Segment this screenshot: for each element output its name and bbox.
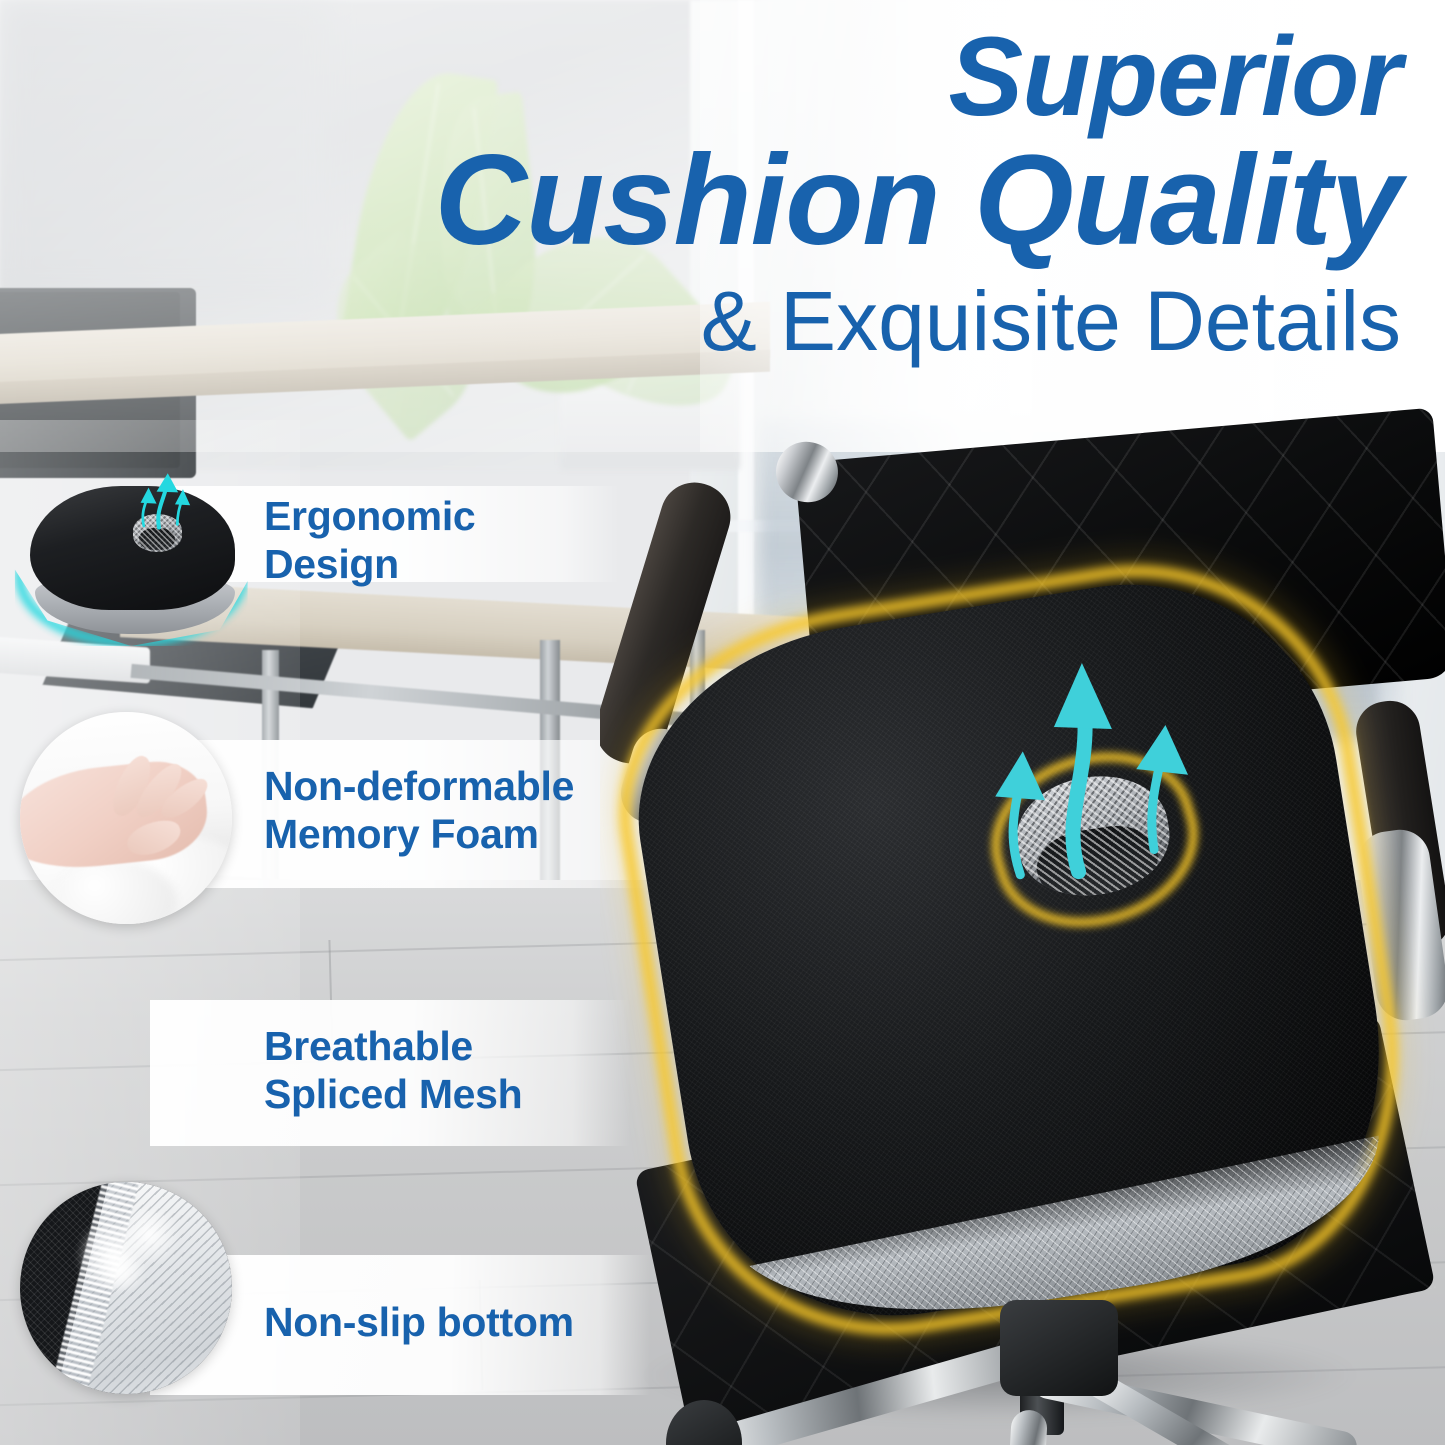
feature-label-line-1: Non-deformable <box>264 762 574 810</box>
headline-line-2: Cushion Quality <box>341 138 1401 263</box>
headline-line-3: & Exquisite Details <box>341 277 1401 365</box>
feature-label-line-2: Spliced Mesh <box>264 1070 522 1118</box>
thumbnail-ergonomic-design <box>10 458 255 658</box>
headline-line-1: Superior <box>341 22 1401 132</box>
feature-ergonomic-design: Ergonomic Design <box>264 492 475 589</box>
chair-hub <box>1000 1300 1118 1396</box>
airflow-arrows <box>910 580 1255 933</box>
feature-label-line-1: Ergonomic <box>264 492 475 540</box>
feature-label-memory-foam: Non-deformable Memory Foam <box>264 762 574 859</box>
feature-label-ergonomic-design: Ergonomic Design <box>264 492 475 589</box>
product-marketing-poster: Superior Cushion Quality & Exquisite Det… <box>0 0 1445 1445</box>
feature-memory-foam: Non-deformable Memory Foam <box>264 762 574 859</box>
feature-label-breathable-mesh: Breathable Spliced Mesh <box>264 1022 522 1119</box>
feature-breathable-mesh: Breathable Spliced Mesh <box>264 1022 522 1119</box>
feature-label-line-2: Design <box>264 540 475 588</box>
feature-label-line-1: Breathable <box>264 1022 522 1070</box>
thumbnail-airflow-arrows <box>123 470 197 534</box>
feature-label-line-1: Non-slip bottom <box>264 1298 574 1346</box>
seat-cushion-product <box>612 554 1411 1345</box>
thumbnail-breathable-mesh <box>20 1182 232 1394</box>
headline-block: Superior Cushion Quality & Exquisite Det… <box>341 22 1401 365</box>
chair-base-arm <box>1004 1409 1048 1445</box>
product-hero-photo <box>600 400 1445 1445</box>
thumbnail-memory-foam <box>20 712 232 924</box>
feature-label-non-slip-bottom: Non-slip bottom <box>264 1298 574 1346</box>
feature-label-line-2: Memory Foam <box>264 810 574 858</box>
feature-non-slip-bottom: Non-slip bottom <box>264 1298 574 1346</box>
